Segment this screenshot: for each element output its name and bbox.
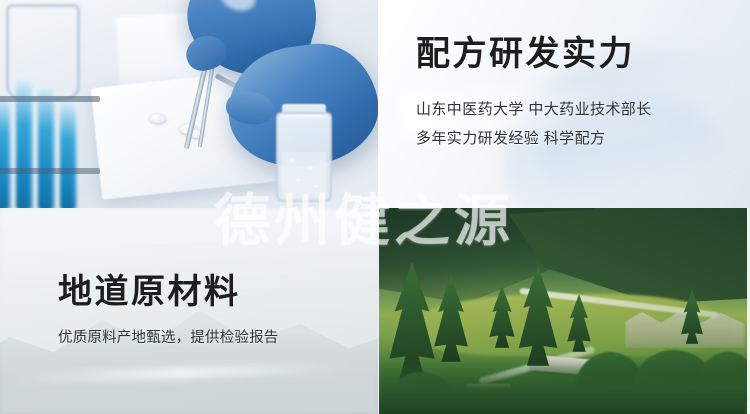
test-tube-icon bbox=[38, 86, 55, 208]
rack-frame bbox=[0, 168, 100, 174]
pill-bottle-contents bbox=[282, 152, 326, 198]
lab-photo-panel bbox=[0, 0, 378, 208]
test-tube-rack bbox=[0, 52, 96, 208]
promo-banner: 配方研发实力 山东中医药大学 中大药业技术部长 多年实力研发经验 科学配方 地道… bbox=[0, 0, 750, 414]
test-tube-icon bbox=[0, 94, 11, 208]
formula-title: 配方研发实力 bbox=[416, 34, 726, 74]
formula-text-panel: 配方研发实力 山东中医药大学 中大药业技术部长 多年实力研发经验 科学配方 bbox=[378, 0, 750, 208]
foreground-foliage bbox=[379, 362, 747, 414]
material-text-panel: 地道原材料 优质原料产地甄选，提供检验报告 bbox=[0, 208, 378, 414]
test-tube-icon bbox=[60, 100, 77, 208]
formula-subtitle-line-1: 山东中医药大学 中大药业技术部长 bbox=[416, 95, 726, 124]
nature-photo-panel bbox=[379, 208, 747, 414]
material-subtitle-line-1: 优质原料产地甄选，提供检验报告 bbox=[58, 324, 358, 352]
formula-subtitle-line-2: 多年实力研发经验 科学配方 bbox=[416, 124, 726, 153]
material-title: 地道原材料 bbox=[58, 272, 358, 312]
rack-frame bbox=[0, 96, 100, 102]
material-text-block: 地道原材料 优质原料产地甄选，提供检验报告 bbox=[58, 272, 358, 352]
formula-text-block: 配方研发实力 山东中医药大学 中大药业技术部长 多年实力研发经验 科学配方 bbox=[416, 34, 726, 154]
tablet-icon bbox=[150, 114, 166, 123]
formula-subtitle: 山东中医药大学 中大药业技术部长 多年实力研发经验 科学配方 bbox=[416, 95, 726, 154]
